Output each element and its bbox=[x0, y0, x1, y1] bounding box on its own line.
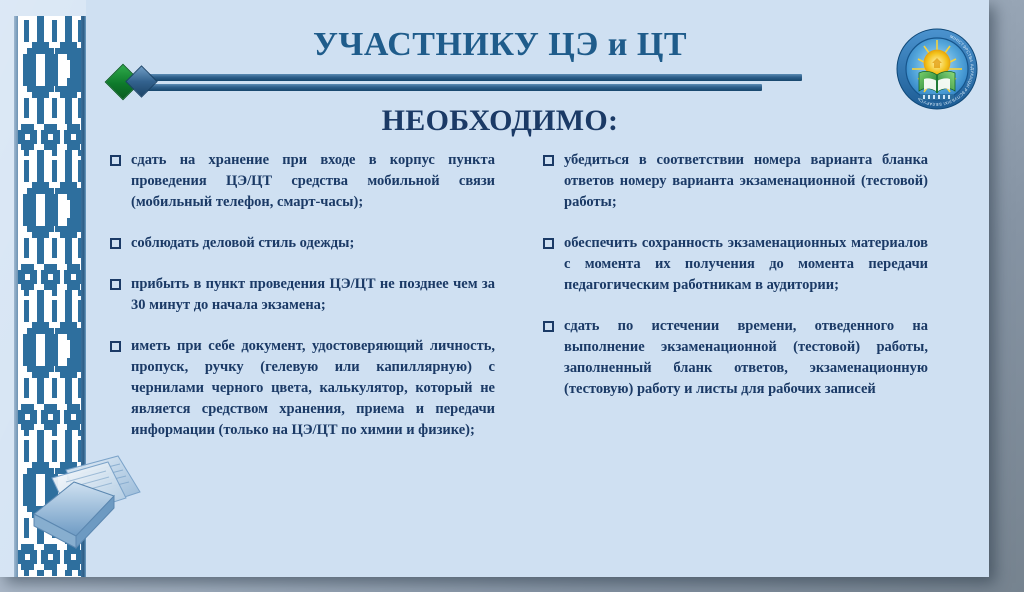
list-item-text: убедиться в соответствии номера варианта… bbox=[564, 150, 928, 213]
right-bullet-column: убедиться в соответствии номера варианта… bbox=[543, 150, 928, 441]
list-item-text: сдать по истечении времени, отведенного … bbox=[564, 316, 928, 400]
list-item: иметь при себе документ, удостоверяющий … bbox=[110, 336, 495, 441]
list-item: соблюдать деловой стиль одежды; bbox=[110, 233, 495, 254]
list-item-text: прибыть в пункт проведения ЦЭ/ЦТ не позд… bbox=[131, 274, 495, 316]
checkbox-bullet-icon bbox=[110, 279, 121, 290]
list-item: убедиться в соответствии номера варианта… bbox=[543, 150, 928, 213]
slide-title: УЧАСТНИКУ ЦЭ и ЦТ bbox=[120, 26, 880, 64]
list-item: прибыть в пункт проведения ЦЭ/ЦТ не позд… bbox=[110, 274, 495, 316]
left-bullet-column: сдать на хранение при входе в корпус пун… bbox=[110, 150, 495, 441]
presentation-slide: УЧАСТНИКУ ЦЭ и ЦТ НЕОБХОДИМО: bbox=[0, 0, 989, 577]
list-item: сдать по истечении времени, отведенного … bbox=[543, 316, 928, 400]
checkbox-bullet-icon bbox=[110, 238, 121, 249]
list-item: сдать на хранение при входе в корпус пун… bbox=[110, 150, 495, 213]
stack-of-documents-icon bbox=[22, 448, 150, 566]
divider-bar-bottom bbox=[142, 84, 762, 91]
checkbox-bullet-icon bbox=[110, 341, 121, 352]
ministry-emblem-icon: МІНІСТЭРСТВА АДУКАЦЫІ РЭСПУБЛІКІ БЕЛАРУС… bbox=[896, 28, 978, 110]
list-item: обеспечить сохранность экзаменационных м… bbox=[543, 233, 928, 296]
checkbox-bullet-icon bbox=[543, 238, 554, 249]
list-item-text: обеспечить сохранность экзаменационных м… bbox=[564, 233, 928, 296]
checkbox-bullet-icon bbox=[110, 155, 121, 166]
divider-bar-top bbox=[142, 74, 802, 81]
checkbox-bullet-icon bbox=[543, 155, 554, 166]
slide-subtitle: НЕОБХОДИМО: bbox=[120, 104, 880, 138]
list-item-text: сдать на хранение при входе в корпус пун… bbox=[131, 150, 495, 213]
list-item-text: иметь при себе документ, удостоверяющий … bbox=[131, 336, 495, 441]
checkbox-bullet-icon bbox=[543, 321, 554, 332]
bullet-columns: сдать на хранение при входе в корпус пун… bbox=[110, 150, 973, 441]
list-item-text: соблюдать деловой стиль одежды; bbox=[131, 233, 495, 254]
